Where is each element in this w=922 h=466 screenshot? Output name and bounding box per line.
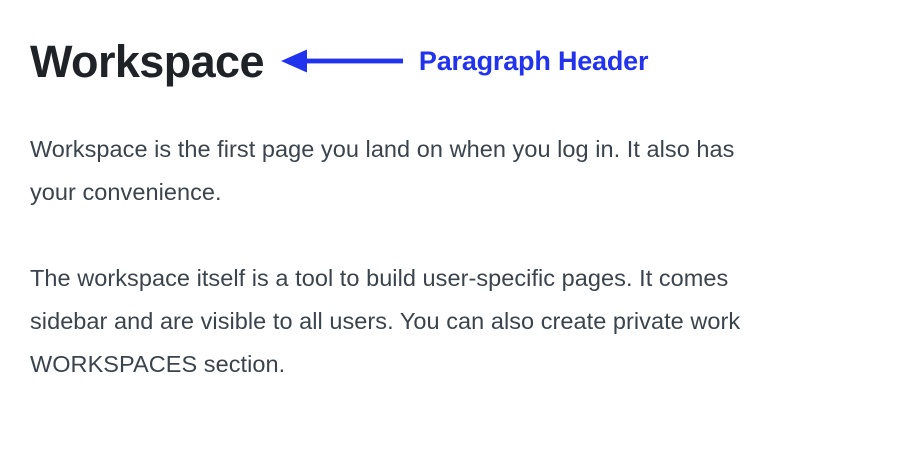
paragraph-line: your convenience. xyxy=(30,171,922,214)
paragraph-line: Workspace is the first page you land on … xyxy=(30,128,922,171)
paragraph-line: sidebar and are visible to all users. Yo… xyxy=(30,300,922,343)
paragraph-line: The workspace itself is a tool to build … xyxy=(30,257,922,300)
body-copy: Workspace is the first page you land on … xyxy=(30,128,922,386)
page-title: Workspace xyxy=(30,39,264,84)
heading-row: Workspace Paragraph Header xyxy=(30,30,648,92)
paragraph-line: WORKSPACES section. xyxy=(30,343,922,386)
paragraph-2: The workspace itself is a tool to build … xyxy=(30,257,922,386)
documentation-page: Workspace Paragraph Header Workspace is … xyxy=(0,0,922,466)
paragraph-1: Workspace is the first page you land on … xyxy=(30,128,922,214)
annotation-callout: Paragraph Header xyxy=(281,48,648,75)
annotation-label: Paragraph Header xyxy=(419,48,648,75)
arrow-left-icon xyxy=(281,48,403,74)
